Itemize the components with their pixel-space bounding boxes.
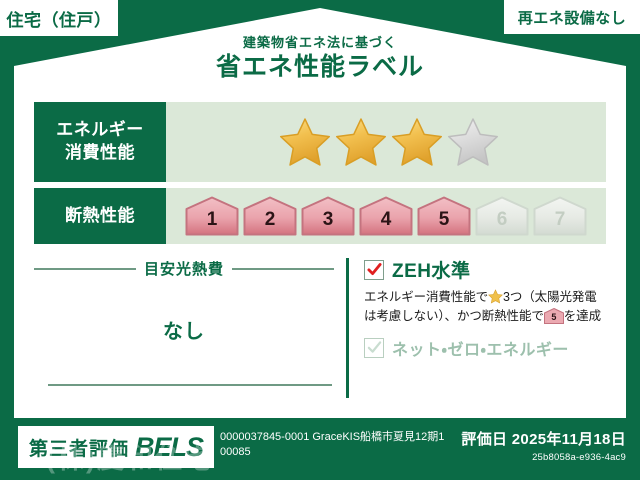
bels-en-text: BELS xyxy=(135,432,203,463)
insulation-level-1: 1 xyxy=(185,196,239,236)
insulation-level-value: 2 xyxy=(265,210,276,236)
check-icon xyxy=(367,262,382,277)
insulation-level-value: 3 xyxy=(323,210,334,236)
star-filled-icon xyxy=(334,116,388,168)
utility-cost-heading: 目安光熱費 xyxy=(34,258,334,279)
evaluation-id: 25b8058a-e936-4ac9 xyxy=(461,452,626,463)
utility-cost-value: なし xyxy=(34,315,334,344)
net-zero-checkbox xyxy=(364,338,384,358)
utility-cost-heading-text: 目安光熱費 xyxy=(144,258,224,279)
check-icon-disabled xyxy=(367,340,382,355)
utility-cost-section: 目安光熱費 なし xyxy=(34,252,334,412)
zeh-description: エネルギー消費性能で 3つ（太陽光発電 は考慮しない）、かつ断熱性能で 5 を達… xyxy=(364,288,606,326)
inline-star-icon xyxy=(488,289,503,304)
label-card: エネルギー 消費性能 断熱性能 1234567 目安光熱費 なし xyxy=(14,92,626,418)
zeh-heading: ZEH水準 xyxy=(364,256,606,283)
insulation-grade-scale: 1234567 xyxy=(166,188,606,244)
insulation-performance-row: 断熱性能 1234567 xyxy=(34,188,606,244)
zeh-section: ZEH水準 エネルギー消費性能で 3つ（太陽光発電 は考慮しない）、かつ断熱性能… xyxy=(334,252,606,412)
inline-house-icon: 5 xyxy=(544,308,564,324)
bels-logo: 第三者評価 BELS xyxy=(18,426,214,468)
zeh-desc-part3: を達成 xyxy=(564,309,601,323)
insulation-label: 断熱性能 xyxy=(65,205,135,228)
insulation-level-3: 3 xyxy=(301,196,355,236)
zeh-desc-star-count: 3つ（太陽光発電 xyxy=(503,290,597,304)
zeh-title: ZEH水準 xyxy=(392,256,471,283)
insulation-level-value: 7 xyxy=(555,210,566,236)
utility-cost-bottom-rule xyxy=(48,384,332,386)
badge-building-type: 住宅（住戸） xyxy=(0,0,118,36)
rule-line-right xyxy=(232,268,334,270)
label-title-block: 建築物省エネ法に基づく 省エネ性能ラベル xyxy=(0,36,640,84)
star-empty-icon xyxy=(446,116,500,168)
insulation-level-7: 7 xyxy=(533,196,587,236)
energy-performance-label-head: エネルギー 消費性能 xyxy=(34,102,166,182)
evaluation-date-label: 評価日 xyxy=(461,431,507,448)
energy-star-rating xyxy=(166,102,606,182)
zeh-checkbox xyxy=(364,260,384,280)
net-zero-energy-row: ネット・ゼロ・エネルギー xyxy=(364,336,606,360)
rule-line-left xyxy=(34,268,136,270)
page-title: 省エネ性能ラベル xyxy=(0,52,640,83)
insulation-level-4: 4 xyxy=(359,196,413,236)
inline-house-value: 5 xyxy=(544,308,564,324)
insulation-level-value: 1 xyxy=(207,210,218,236)
evaluation-date-value: 2025年11月18日 xyxy=(512,431,626,448)
insulation-level-value: 5 xyxy=(439,210,450,236)
insulation-level-5: 5 xyxy=(417,196,471,236)
energy-label-line1: エネルギー xyxy=(56,119,144,142)
star-filled-icon xyxy=(390,116,444,168)
energy-performance-row: エネルギー 消費性能 xyxy=(34,102,606,182)
insulation-performance-label-head: 断熱性能 xyxy=(34,188,166,244)
label-footer: 第三者評価 BELS 0000037845-0001 GraceKIS船橋市夏見… xyxy=(0,418,640,480)
bels-jp-text: 第三者評価 xyxy=(29,434,129,461)
evaluation-info: 評価日 2025年11月18日 25b8058a-e936-4ac9 xyxy=(461,428,626,463)
badge-renewable-equipment: 再エネ設備なし xyxy=(504,0,640,34)
lower-section: 目安光熱費 なし ZEH水準 エネルギー消費性能で xyxy=(34,252,606,412)
energy-performance-label: 建築物省エネ法に基づく 省エネ性能ラベル 住宅（住戸） 再エネ設備なし エネルギ… xyxy=(0,0,640,480)
star-filled-icon xyxy=(278,116,332,168)
insulation-level-2: 2 xyxy=(243,196,297,236)
net-zero-label: ネット・ゼロ・エネルギー xyxy=(392,336,569,360)
zeh-desc-part1: エネルギー消費性能で xyxy=(364,290,488,304)
insulation-level-6: 6 xyxy=(475,196,529,236)
insulation-level-value: 4 xyxy=(381,210,392,236)
energy-label-line2: 消費性能 xyxy=(65,142,135,165)
evaluation-date: 評価日 2025年11月18日 xyxy=(461,428,626,449)
insulation-level-value: 6 xyxy=(497,210,508,236)
zeh-desc-part2: は考慮しない）、かつ断熱性能で xyxy=(364,309,544,323)
certificate-number: 0000037845-0001 GraceKIS船橋市夏見12期100085 xyxy=(220,430,450,460)
title-subtitle: 建築物省エネ法に基づく xyxy=(0,36,640,50)
